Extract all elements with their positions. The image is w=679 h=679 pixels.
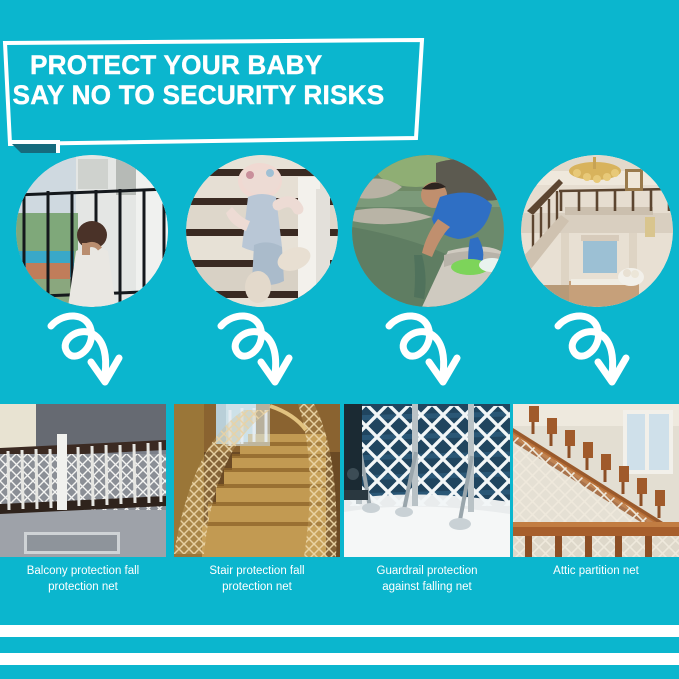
hazard-photo-pond-edge-boy	[352, 155, 504, 307]
down-curl-arrow-icon	[45, 312, 135, 390]
attic-partition-net-image	[513, 404, 679, 557]
down-curl-arrow-icon	[215, 312, 305, 390]
down-curl-arrow-3	[383, 312, 473, 390]
product-photo-balcony-protection-net	[0, 404, 166, 557]
caption-line-2: protection net	[0, 579, 166, 595]
down-curl-arrow-4	[552, 312, 642, 390]
headline-line-1: PROTECT YOUR BABY	[30, 50, 408, 80]
caption-line-2: against falling net	[344, 579, 510, 595]
caption-attic-partition-net: Attic partition net	[513, 563, 679, 579]
loft-stair-interior-image	[521, 155, 673, 307]
caption-line-2: protection net	[174, 579, 340, 595]
product-photo-row	[0, 404, 679, 557]
stair-protection-net-image	[174, 404, 340, 557]
caption-line-1: Guardrail protection	[344, 563, 510, 579]
bottom-stripe-1	[0, 625, 679, 637]
product-photo-attic-partition-net	[513, 404, 679, 557]
guardrail-protection-net-image	[344, 404, 510, 557]
hazard-photo-row	[0, 155, 679, 310]
down-curl-arrow-icon	[383, 312, 473, 390]
caption-line-1: Balcony protection fall	[0, 563, 166, 579]
caption-guardrail-protection-net: Guardrail protection against falling net	[344, 563, 510, 595]
caption-stair-protection-net: Stair protection fall protection net	[174, 563, 340, 595]
bottom-stripe-2	[0, 653, 679, 665]
pond-edge-boy-image	[352, 155, 504, 307]
down-curl-arrow-icon	[552, 312, 642, 390]
infographic-page: PROTECT YOUR BABY SAY NO TO SECURITY RIS…	[0, 0, 679, 679]
caption-balcony-protection-net: Balcony protection fall protection net	[0, 563, 166, 595]
hazard-photo-stairs-climbing-toddler	[186, 155, 338, 307]
headline-line-2: SAY NO TO SECURITY RISKS	[13, 80, 409, 110]
product-photo-guardrail-protection-net	[344, 404, 510, 557]
headline-ribbon: PROTECT YOUR BABY SAY NO TO SECURITY RIS…	[0, 38, 440, 153]
down-curl-arrow-1	[45, 312, 135, 390]
arrow-row	[0, 312, 679, 390]
caption-line-1: Attic partition net	[513, 563, 679, 579]
hazard-photo-balcony-railing-child	[16, 155, 168, 307]
balcony-protection-net-image	[0, 404, 166, 557]
caption-line-1: Stair protection fall	[174, 563, 340, 579]
product-caption-row: Balcony protection fall protection net S…	[0, 563, 679, 613]
headline-text: PROTECT YOUR BABY SAY NO TO SECURITY RIS…	[30, 50, 408, 110]
hazard-photo-loft-stair-interior	[521, 155, 673, 307]
down-curl-arrow-2	[215, 312, 305, 390]
stairs-climbing-toddler-image	[186, 155, 338, 307]
balcony-railing-child-image	[16, 155, 168, 307]
product-photo-stair-protection-net	[174, 404, 340, 557]
